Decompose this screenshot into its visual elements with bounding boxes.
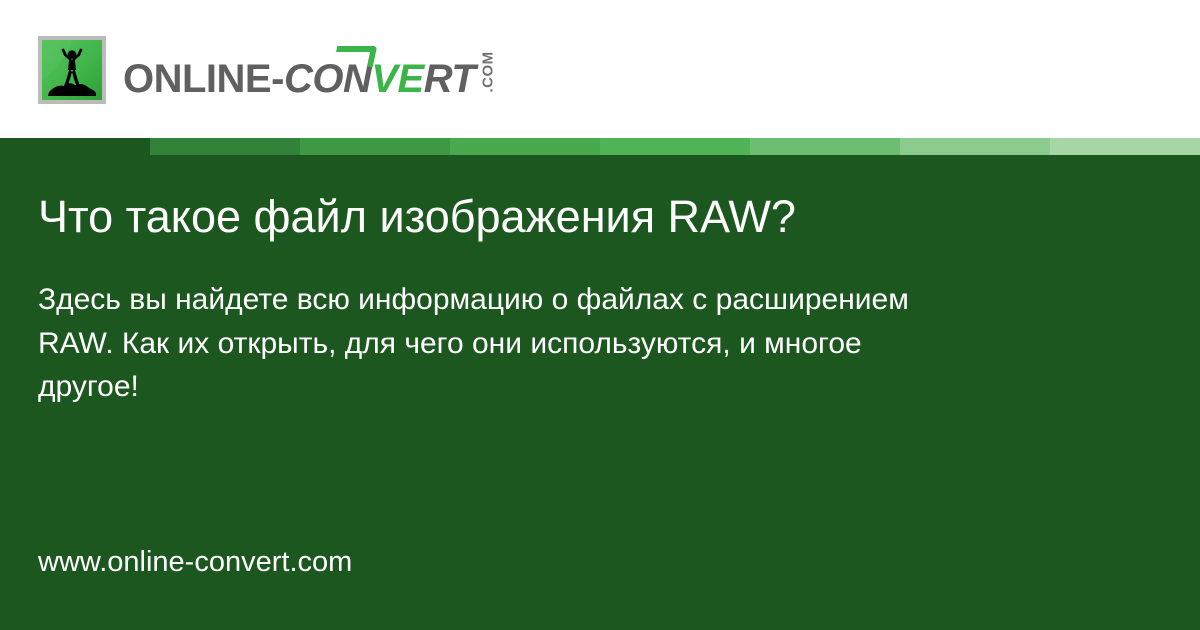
stripe-segment-5 [750,138,900,155]
wordmark-con: CON [284,57,371,101]
stripe-segment-2 [300,138,450,155]
gradient-stripe-bar [0,138,1200,155]
site-logo[interactable]: ONLINE- CONVERT .COM [38,36,497,104]
logo-mark [38,36,106,104]
page-title: Что такое файл изображения RAW? [38,155,1038,242]
wordmark-rt: RT [424,57,476,101]
logo-wordmark: ONLINE- CONVERT .COM [123,31,497,109]
stripe-segment-7 [1050,138,1200,155]
stripe-segment-6 [900,138,1050,155]
stripe-segment-4 [600,138,750,155]
page-root: ONLINE- CONVERT .COM Что такое файл изоб… [0,0,1200,630]
person-celebrating-on-rock-icon [42,40,102,100]
main-content: Что такое файл изображения RAW? Здесь вы… [38,155,1038,408]
stripe-segment-1 [150,138,300,155]
wordmark-online: ONLINE- [123,59,284,99]
stripe-segment-3 [450,138,600,155]
wordmark-ve: VE [371,57,423,101]
wordmark-tld: .COM [480,75,497,93]
wordmark-convert: CONVERT [284,59,475,99]
stripe-segment-0 [0,138,150,155]
site-url-label: www.online-convert.com [38,548,352,577]
site-header: ONLINE- CONVERT .COM [0,0,1200,138]
page-subtitle: Здесь вы найдете всю информацию о файлах… [38,242,958,408]
